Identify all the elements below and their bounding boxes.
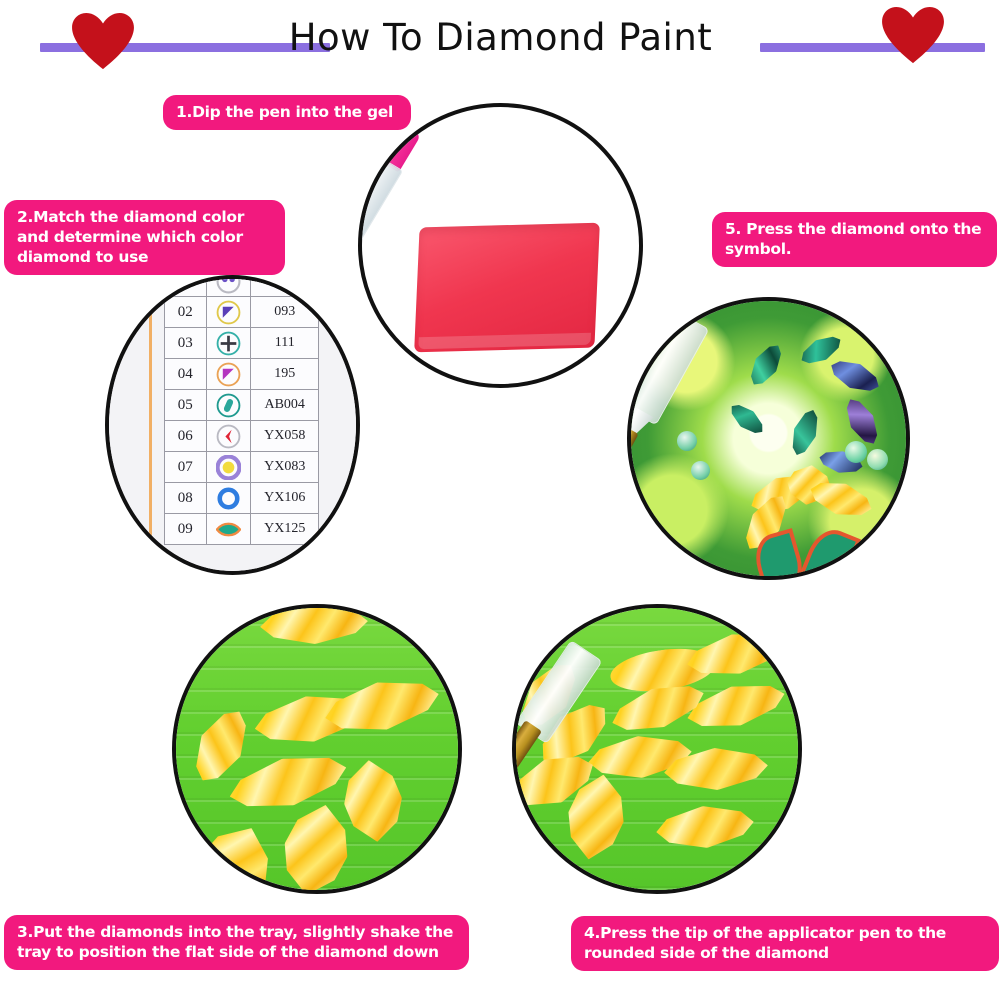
legend-leaf-icon	[206, 514, 251, 545]
page-title: How To Diamond Paint	[0, 16, 1001, 59]
legend-number: 08	[165, 483, 207, 514]
infographic-canvas: How To Diamond Paint 1.Dip the pen into …	[0, 0, 1001, 1001]
legend-ring-icon	[206, 483, 251, 514]
step-label-4: 4.Press the tip of the applicator pen to…	[571, 916, 999, 971]
legend-number: 05	[165, 390, 207, 421]
legend-code: 195	[251, 359, 319, 390]
legend-row: 03111	[165, 328, 319, 359]
legend-row: 04195	[165, 359, 319, 390]
legend-number: 02	[165, 297, 207, 328]
photo-step-5-press-onto-symbol	[627, 297, 910, 580]
legend-chevron-left-icon	[206, 421, 251, 452]
photo-step-4-pen-on-diamond	[512, 604, 802, 894]
legend-triangle-icon	[206, 359, 251, 390]
legend-code: 111	[251, 328, 319, 359]
color-legend-table: 0102002093031110419505AB00406YX05807YX08…	[164, 275, 319, 545]
legend-row: 07YX083	[165, 452, 319, 483]
legend-number: 01	[165, 275, 207, 297]
legend-triangle-icon	[206, 297, 251, 328]
gem-round	[845, 441, 867, 463]
gem-round	[677, 431, 697, 451]
legend-code: YX125	[251, 514, 319, 545]
diamond-yellow	[259, 604, 369, 647]
legend-double-dot-icon	[206, 275, 251, 297]
photo-step-1-pen-in-gel	[358, 103, 643, 388]
legend-number: 07	[165, 452, 207, 483]
legend-code: YX083	[251, 452, 319, 483]
step-label-2: 2.Match the diamond color and determine …	[4, 200, 285, 275]
gem-round	[691, 461, 710, 480]
gem-round	[867, 449, 888, 470]
legend-row: 02093	[165, 297, 319, 328]
photo-step-2-color-chart: 0102002093031110419505AB00406YX05807YX08…	[105, 275, 360, 575]
legend-code: YX106	[251, 483, 319, 514]
diamond-yellow	[663, 744, 770, 793]
legend-code: 093	[251, 297, 319, 328]
legend-code: YX058	[251, 421, 319, 452]
step-label-3: 3.Put the diamonds into the tray, slight…	[4, 915, 469, 970]
applicator-pen	[358, 113, 425, 291]
legend-plus-icon	[206, 328, 251, 359]
legend-code: AB004	[251, 390, 319, 421]
legend-filled-circle-icon	[206, 452, 251, 483]
gel-pad	[414, 223, 600, 353]
step-label-5: 5. Press the diamond onto the symbol.	[712, 212, 997, 267]
step-label-1: 1.Dip the pen into the gel	[163, 95, 411, 130]
legend-capsule-icon	[206, 390, 251, 421]
legend-row: 01020	[165, 275, 319, 297]
header: How To Diamond Paint	[0, 0, 1001, 86]
legend-row: 08YX106	[165, 483, 319, 514]
legend-number: 06	[165, 421, 207, 452]
legend-row: 05AB004	[165, 390, 319, 421]
photo-step-3-diamonds-in-tray	[172, 604, 462, 894]
legend-code: 020	[251, 275, 319, 297]
legend-row: 09YX125	[165, 514, 319, 545]
legend-number: 04	[165, 359, 207, 390]
legend-number: 09	[165, 514, 207, 545]
legend-number: 03	[165, 328, 207, 359]
legend-row: 06YX058	[165, 421, 319, 452]
